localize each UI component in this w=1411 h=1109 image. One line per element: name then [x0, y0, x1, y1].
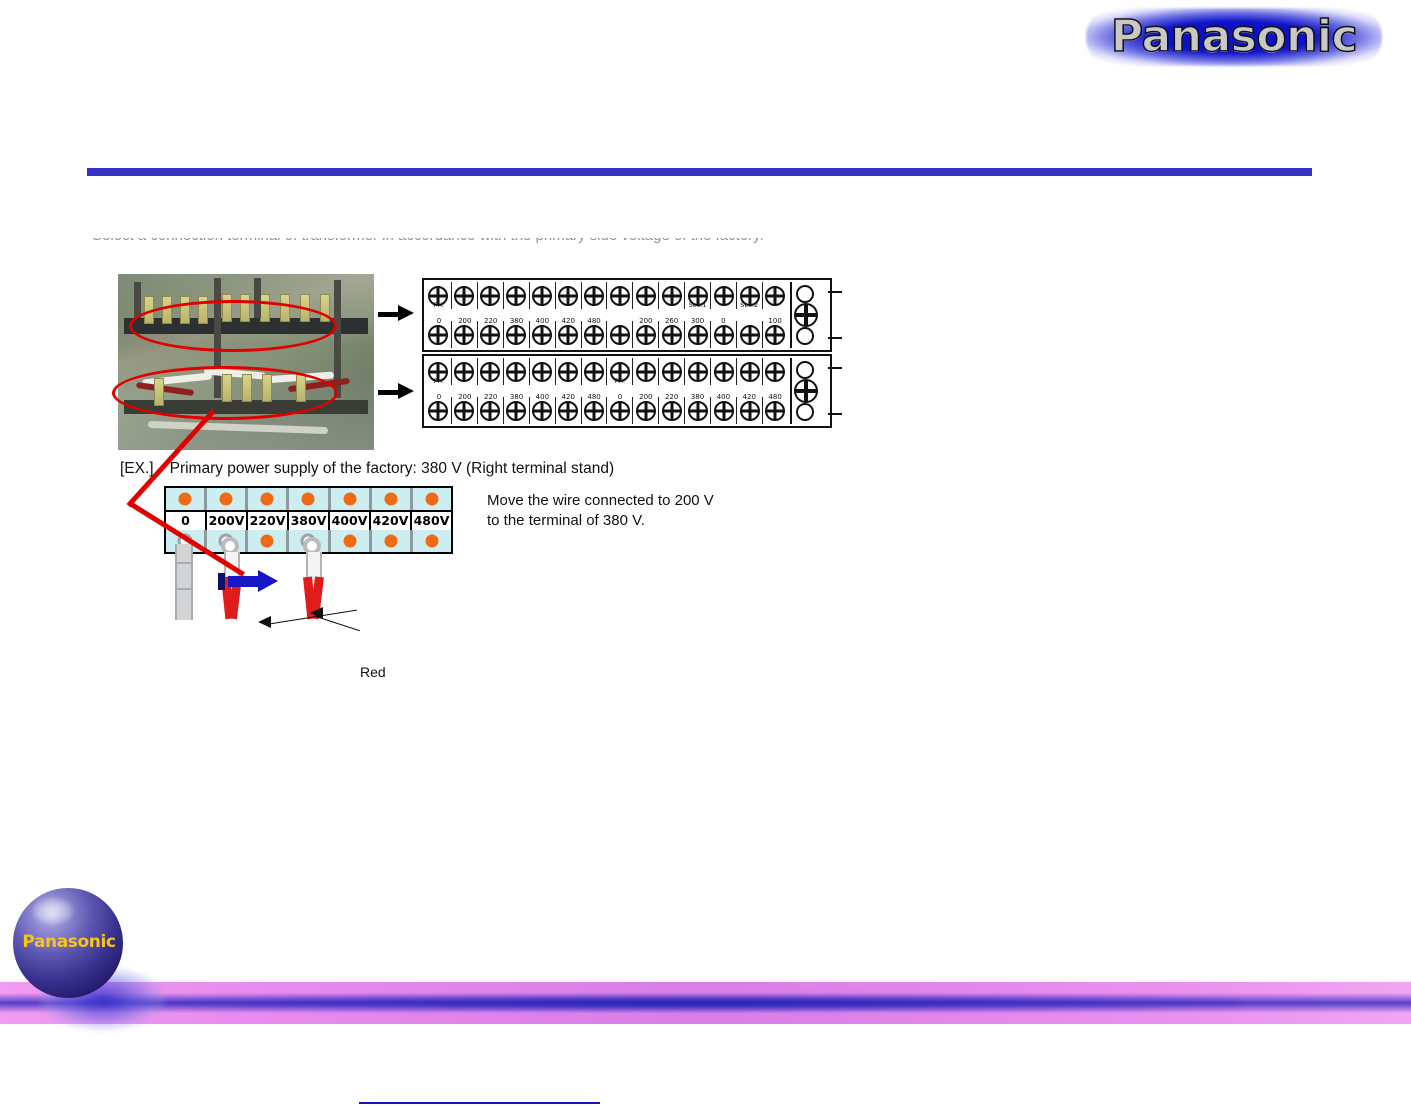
red-callout-arrow-left [258, 616, 271, 628]
terminal-dot-icon [220, 493, 233, 506]
voltage-terminal-380v[interactable] [289, 488, 330, 510]
voltage-label-400v: 400V [330, 512, 371, 530]
photo-post [134, 282, 141, 318]
bracket-screw-icon [796, 403, 814, 421]
terminal-strip-diagram-upper: Pri. Sec.1 Sec.2 0 200 220 380 400 420 4… [422, 278, 832, 352]
screw-icon [428, 325, 448, 345]
voltage-terminal-420v[interactable] [372, 488, 413, 510]
screw-icon [765, 401, 785, 421]
arrow-tail-lower [378, 390, 400, 395]
figure-transformer-terminal-selection: Select a connection terminal of transfor… [84, 248, 944, 648]
move-instruction: Move the wire connected to 200 V to the … [487, 491, 714, 531]
strip-cell[interactable] [737, 397, 763, 424]
voltage-terminal-200v[interactable] [207, 488, 248, 510]
strip-cell[interactable] [504, 321, 530, 348]
voltage-terminal-lower-480v[interactable] [413, 530, 451, 552]
screw-icon [714, 325, 734, 345]
intro-sentence-text: Select a connection terminal of transfor… [92, 238, 792, 243]
strip-cell[interactable] [478, 397, 504, 424]
panasonic-footer-logo: Panasonic [13, 888, 131, 1006]
voltage-label-420v: 420V [371, 512, 412, 530]
strip-cell[interactable] [633, 397, 659, 424]
voltage-label-row: 0 200V 220V 380V 400V 420V 480V [166, 510, 451, 532]
strip-cell[interactable] [763, 397, 788, 424]
strip-cell[interactable] [426, 321, 452, 348]
terminal-dot-icon [261, 493, 274, 506]
strip-cell[interactable] [607, 321, 633, 348]
strip-cell[interactable] [633, 321, 659, 348]
voltage-terminal-480v[interactable] [413, 488, 451, 510]
screw-icon [636, 325, 656, 345]
terminal-dot-icon [384, 535, 397, 548]
strip-cell[interactable] [556, 397, 582, 424]
screw-icon [688, 401, 708, 421]
strip-cell[interactable] [659, 321, 685, 348]
footer-logo-text: Panasonic [15, 932, 123, 952]
instruction-line-2: to the terminal of 380 V. [487, 511, 714, 531]
footer-band-streak [140, 996, 1241, 1010]
footer-link-underline[interactable] [359, 1102, 600, 1104]
arrow-tail-upper [378, 312, 400, 317]
screw-icon [740, 401, 760, 421]
screw-icon [610, 401, 630, 421]
voltage-label-220v: 220V [248, 512, 289, 530]
arrow-head-lower [398, 383, 414, 399]
voltage-terminal-400v[interactable] [331, 488, 372, 510]
strip-screw-row-bottom [426, 321, 788, 348]
terminal-dot-icon [384, 493, 397, 506]
logo-wordmark: Panasonic [1086, 8, 1382, 66]
screw-icon [662, 401, 682, 421]
photo-highlight-ellipse-lower [112, 366, 338, 420]
screw-icon [662, 325, 682, 345]
panasonic-header-logo: Panasonic [1086, 8, 1382, 66]
strip-cell[interactable] [737, 321, 763, 348]
screw-icon [584, 325, 604, 345]
strip-mounting-bracket [790, 282, 828, 348]
terminal-dot-icon [425, 493, 438, 506]
strip-cell[interactable] [530, 321, 556, 348]
red-wire-color-label: Red [360, 664, 386, 680]
screw-icon [584, 401, 604, 421]
screw-icon [740, 325, 760, 345]
terminal-dot-icon [425, 535, 438, 548]
screw-icon [428, 401, 448, 421]
logo-highlight [33, 898, 73, 924]
strip-cell[interactable] [685, 397, 711, 424]
strip-cell[interactable] [763, 321, 788, 348]
screw-icon [558, 325, 578, 345]
screw-icon [688, 325, 708, 345]
terminal-dot-icon [343, 535, 356, 548]
voltage-terminal-lower-420v[interactable] [372, 530, 413, 552]
screw-icon [506, 325, 526, 345]
arrow-head-upper [398, 305, 414, 321]
bracket-screw-icon [796, 327, 814, 345]
strip-cell[interactable] [452, 321, 478, 348]
strip-screw-row-bottom [426, 397, 788, 424]
example-caption-text: Primary power supply of the factory: 380… [170, 460, 615, 477]
gray-wire [175, 544, 193, 620]
strip-cell[interactable] [504, 397, 530, 424]
strip-cell[interactable] [711, 321, 737, 348]
screw-icon [610, 325, 630, 345]
wire-band [177, 562, 191, 564]
strip-cell[interactable] [478, 321, 504, 348]
strip-cell[interactable] [582, 397, 608, 424]
wire-band [177, 588, 191, 590]
bracket-tab [828, 367, 842, 369]
title-divider [87, 168, 1312, 176]
footer-band [0, 982, 1411, 1024]
screw-icon [765, 325, 785, 345]
wire-shank [306, 552, 322, 578]
screw-icon [506, 401, 526, 421]
strip-cell[interactable] [711, 397, 737, 424]
voltage-terminal-row-top [166, 488, 451, 510]
photo-highlight-ellipse-upper [129, 300, 337, 352]
screw-icon [532, 325, 552, 345]
bracket-center-screw-icon [794, 379, 818, 403]
strip-cell[interactable] [582, 321, 608, 348]
screw-icon [480, 325, 500, 345]
screw-icon [714, 401, 734, 421]
screw-icon [558, 401, 578, 421]
voltage-label-380v: 380V [289, 512, 330, 530]
voltage-label-200v: 200V [207, 512, 248, 530]
strip-cell[interactable] [607, 397, 633, 424]
strip-cell[interactable] [556, 321, 582, 348]
strip-cell[interactable] [530, 397, 556, 424]
voltage-terminal-lower-400v[interactable] [331, 530, 372, 552]
strip-mounting-bracket [790, 358, 828, 424]
example-tag: [EX.] [120, 460, 154, 477]
screw-icon [480, 401, 500, 421]
terminal-dot-icon [343, 493, 356, 506]
screw-icon [532, 401, 552, 421]
voltage-terminal-220v[interactable] [248, 488, 289, 510]
terminal-strip-diagram-lower: Pri. Pri. 0 200 220 380 400 420 480 0 20… [422, 354, 832, 428]
bracket-screw-icon [796, 285, 814, 303]
strip-cell[interactable] [659, 397, 685, 424]
strip-cell[interactable] [452, 397, 478, 424]
voltage-terminal-lower-220v[interactable] [248, 530, 289, 552]
terminal-dot-icon [302, 493, 315, 506]
intro-sentence: Select a connection terminal of transfor… [92, 238, 792, 252]
bracket-center-screw-icon [794, 303, 818, 327]
example-caption: [EX.]Primary power supply of the factory… [120, 460, 614, 478]
voltage-terminal-0[interactable] [166, 488, 207, 510]
move-wire-arrow [218, 570, 280, 592]
bracket-tab [828, 291, 842, 293]
bracket-tab [828, 413, 842, 415]
screw-icon [454, 401, 474, 421]
strip-cell[interactable] [685, 321, 711, 348]
voltage-label-480v: 480V [412, 512, 451, 530]
bracket-screw-icon [796, 361, 814, 379]
terminal-dot-icon [261, 535, 274, 548]
screw-icon [636, 401, 656, 421]
arrow-stem [228, 576, 260, 587]
red-callout-arrow-right [310, 607, 323, 619]
arrow-cap [218, 573, 225, 590]
strip-cell[interactable] [426, 397, 452, 424]
screw-icon [454, 325, 474, 345]
bracket-tab [828, 337, 842, 339]
arrow-head-icon [258, 570, 278, 592]
instruction-line-1: Move the wire connected to 200 V [487, 491, 714, 511]
terminal-dot-icon [179, 493, 192, 506]
